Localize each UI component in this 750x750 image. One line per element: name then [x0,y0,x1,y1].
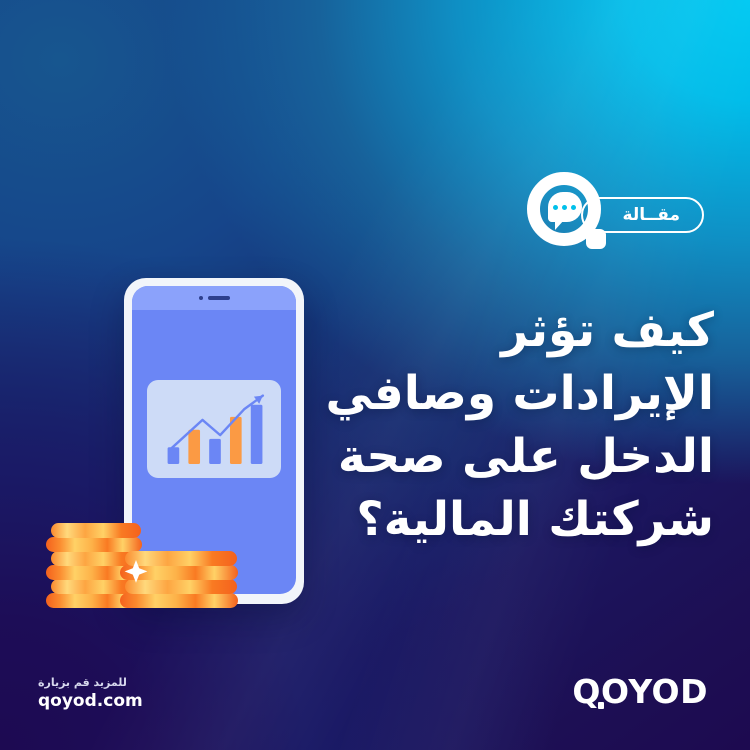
chart-bar-5 [251,405,263,464]
coin-right-stack [120,551,238,608]
page-title: كيف تؤثر الإيرادات وصافي الدخل على صحة ش… [314,300,714,552]
qoyod-logo-dot [598,702,604,709]
camera-dot-icon [199,296,203,300]
headline-line-2: الإيرادات وصافي [314,363,714,426]
coin-stack-icon [42,504,242,610]
coin-stack-svg [42,504,242,610]
speech-bubble-q-icon [527,172,613,258]
headline-line-4: شركتك المالية؟ [314,489,714,552]
headline-line-3: الدخل على صحة [314,426,714,489]
left-stack-coin-5 [46,537,142,552]
chart-bar-2 [188,430,200,464]
visit-label: للمزيد قم بزيارة [38,676,143,690]
bar-chart-card [147,380,281,478]
qoyod-wordmark: QOYOD [572,675,708,708]
chart-bars [168,405,263,464]
right-stack-coin-4 [125,551,237,566]
q-tail-square [586,229,606,249]
poster-canvas: مقــالة كيف تؤثر الإيرادات وصافي الدخل ع… [0,0,750,750]
website-url[interactable]: qoyod.com [38,692,143,712]
bubble-dot-2 [562,205,567,210]
phone-status-bar [132,286,296,310]
left-stack-coin-6 [51,523,141,538]
bubble-dot-1 [571,205,576,210]
right-stack-coin-2 [125,579,237,594]
footer-visit-block: للمزيد قم بزيارة qoyod.com [38,676,143,712]
right-stack-coin-1 [120,593,238,608]
chart-bar-3 [209,439,221,464]
bubble-dot-3 [553,205,558,210]
bar-chart-svg [147,380,281,478]
article-badge: مقــالة [527,172,704,258]
speaker-slot-icon [208,296,230,300]
qoyod-logo: QOYOD [572,675,708,708]
speech-bubble-shape [548,192,582,222]
headline-line-1: كيف تؤثر [314,300,714,363]
